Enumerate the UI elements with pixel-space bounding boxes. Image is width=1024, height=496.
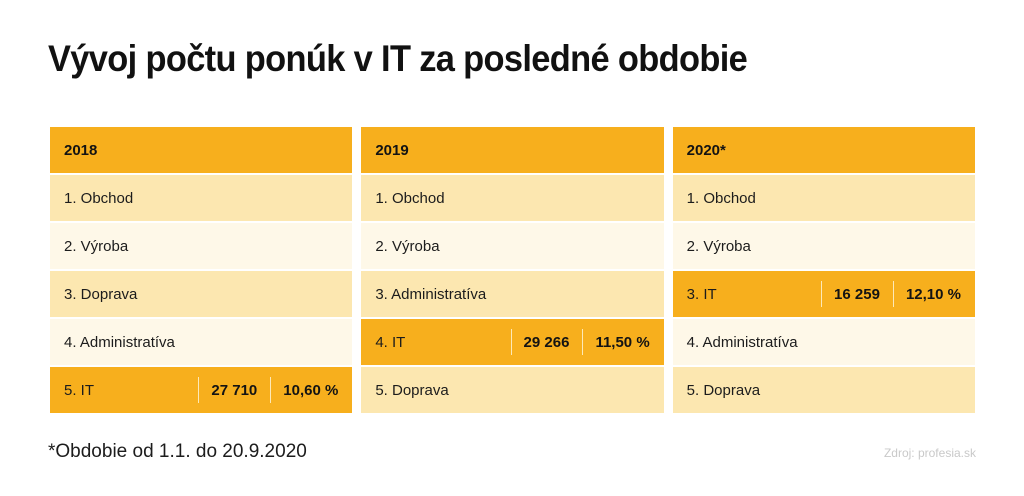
year-column: 20181. Obchod2. Výroba3. Doprava4. Admin…: [50, 127, 352, 413]
rank-label: 2. Výroba: [687, 238, 751, 255]
rank-label: 5. IT: [64, 382, 94, 399]
table-row-highlighted: 4. IT29 26611,50 %: [361, 319, 663, 365]
rank-label: 4. Administratíva: [687, 334, 798, 351]
year-column: 2020*1. Obchod2. Výroba3. IT16 25912,10 …: [673, 127, 975, 413]
footnote: *Obdobie od 1.1. do 20.9.2020: [48, 441, 307, 463]
rank-label: 1. Obchod: [687, 190, 756, 207]
column-header-label: 2018: [64, 142, 97, 159]
table-row: 3. Doprava: [50, 271, 352, 317]
infographic-page: Vývoj počtu ponúk v IT za posledné obdob…: [0, 0, 1024, 496]
table-row: 2. Výroba: [361, 223, 663, 269]
row-metrics: 27 71010,60 %: [198, 367, 340, 413]
column-header: 2019: [361, 127, 663, 173]
column-header-label: 2019: [375, 142, 408, 159]
table-row: 4. Administratíva: [50, 319, 352, 365]
offer-count-value: 29 266: [511, 319, 583, 365]
rank-label: 5. Doprava: [375, 382, 448, 399]
rank-label: 2. Výroba: [375, 238, 439, 255]
column-header-label: 2020*: [687, 142, 726, 159]
ranking-table: 20181. Obchod2. Výroba3. Doprava4. Admin…: [50, 127, 975, 413]
table-row: 5. Doprava: [361, 367, 663, 413]
table-row: 1. Obchod: [673, 175, 975, 221]
column-header: 2018: [50, 127, 352, 173]
page-title: Vývoj počtu ponúk v IT za posledné obdob…: [48, 38, 747, 80]
source-credit: Zdroj: profesia.sk: [884, 446, 976, 460]
rank-label: 4. IT: [375, 334, 405, 351]
rank-label: 1. Obchod: [64, 190, 133, 207]
table-row: 1. Obchod: [361, 175, 663, 221]
rank-label: 2. Výroba: [64, 238, 128, 255]
offer-share-value: 10,60 %: [270, 367, 340, 413]
offer-share-value: 12,10 %: [893, 271, 963, 317]
table-row: 2. Výroba: [673, 223, 975, 269]
row-metrics: 29 26611,50 %: [511, 319, 652, 365]
table-row: 2. Výroba: [50, 223, 352, 269]
table-row-highlighted: 3. IT16 25912,10 %: [673, 271, 975, 317]
table-row: 5. Doprava: [673, 367, 975, 413]
rank-label: 3. Doprava: [64, 286, 137, 303]
table-row: 1. Obchod: [50, 175, 352, 221]
offer-count-value: 16 259: [821, 271, 893, 317]
table-row-highlighted: 5. IT27 71010,60 %: [50, 367, 352, 413]
rank-label: 3. IT: [687, 286, 717, 303]
rank-label: 5. Doprava: [687, 382, 760, 399]
table-row: 3. Administratíva: [361, 271, 663, 317]
year-column: 20191. Obchod2. Výroba3. Administratíva4…: [361, 127, 663, 413]
column-header: 2020*: [673, 127, 975, 173]
offer-share-value: 11,50 %: [582, 319, 651, 365]
rank-label: 4. Administratíva: [64, 334, 175, 351]
table-row: 4. Administratíva: [673, 319, 975, 365]
rank-label: 3. Administratíva: [375, 286, 486, 303]
rank-label: 1. Obchod: [375, 190, 444, 207]
row-metrics: 16 25912,10 %: [821, 271, 963, 317]
offer-count-value: 27 710: [198, 367, 270, 413]
